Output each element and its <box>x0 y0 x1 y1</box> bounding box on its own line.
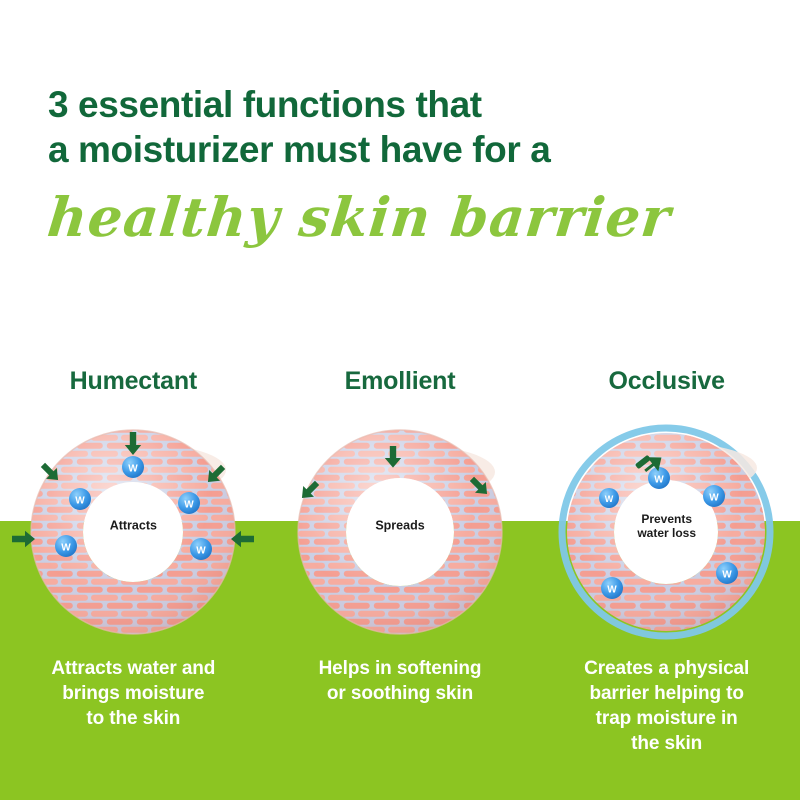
svg-text:W: W <box>61 543 71 554</box>
svg-text:W: W <box>605 494 614 504</box>
water-molecule: W <box>648 467 670 489</box>
functions-columns: Humectant <box>0 366 800 786</box>
svg-text:W: W <box>722 570 732 581</box>
caption-line: brings moisture <box>62 683 204 704</box>
water-molecule: W <box>703 485 725 507</box>
caption-humectant: Attracts water and brings moisture to th… <box>16 656 251 731</box>
diagram-occlusive: W W W W <box>549 410 784 642</box>
headline-script-line: healthy skin barrier <box>45 188 761 246</box>
diagram-emollient: Spreads <box>283 410 518 642</box>
water-molecule: W <box>601 577 623 599</box>
caption-line: Creates a physical <box>584 658 749 679</box>
svg-text:W: W <box>709 493 719 504</box>
caption-line: trap moisture in <box>596 708 738 729</box>
svg-text:W: W <box>607 585 617 596</box>
water-molecule: W <box>55 535 77 557</box>
water-molecule: W <box>122 456 144 478</box>
svg-text:W: W <box>128 464 138 475</box>
column-title-occlusive: Occlusive <box>609 366 725 400</box>
water-molecule: W <box>190 538 212 560</box>
water-molecule: W <box>716 562 738 584</box>
headline: 3 essential functions that a moisturizer… <box>48 82 758 246</box>
headline-line-1: 3 essential functions that <box>48 82 758 127</box>
function-column-occlusive: Occlusive <box>533 366 800 786</box>
svg-text:W: W <box>184 500 194 511</box>
column-title-humectant: Humectant <box>70 366 197 400</box>
caption-line: or soothing skin <box>327 683 473 704</box>
headline-line-2: a moisturizer must have for a <box>48 127 758 172</box>
caption-occlusive: Creates a physical barrier helping to tr… <box>549 656 784 756</box>
svg-text:W: W <box>75 496 85 507</box>
function-column-humectant: Humectant <box>0 366 267 786</box>
caption-line: Helps in softening <box>319 658 482 679</box>
caption-emollient: Helps in softening or soothing skin <box>283 656 518 706</box>
water-molecule: W <box>178 492 200 514</box>
svg-text:W: W <box>196 546 206 557</box>
water-molecule: W <box>69 488 91 510</box>
diagram-humectant: W W W W <box>16 410 251 642</box>
water-molecule: W <box>599 488 619 508</box>
function-column-emollient: Emollient <box>267 366 534 786</box>
caption-line: to the skin <box>86 708 180 729</box>
caption-line: barrier helping to <box>589 683 743 704</box>
svg-text:W: W <box>654 475 664 486</box>
column-title-emollient: Emollient <box>345 366 456 400</box>
caption-line: Attracts water and <box>51 658 215 679</box>
caption-line: the skin <box>631 733 702 754</box>
infographic-canvas: 3 essential functions that a moisturizer… <box>0 0 800 800</box>
